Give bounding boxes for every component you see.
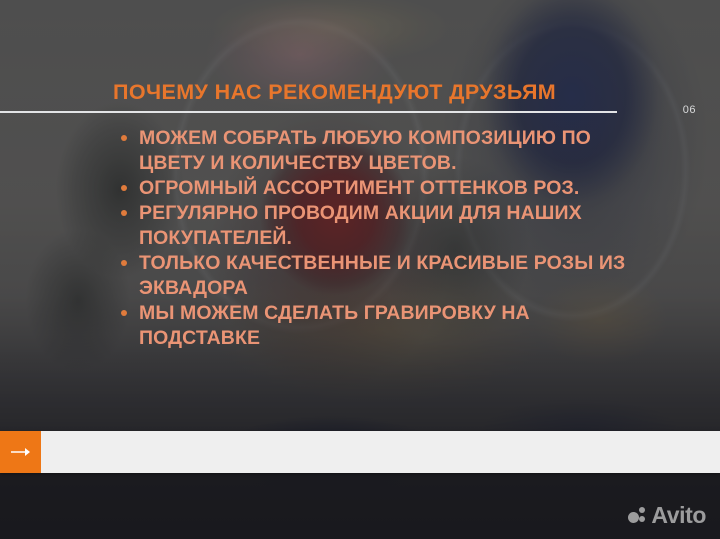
list-item: ОГРОМНЫЙ АССОРТИМЕНТ ОТТЕНКОВ РОЗ. bbox=[113, 176, 638, 201]
list-item: МЫ МОЖЕМ СДЕЛАТЬ ГРАВИРОВКУ НА ПОДСТАВКЕ bbox=[113, 301, 638, 351]
title-divider-rule bbox=[0, 111, 617, 113]
arrow-right-icon bbox=[10, 446, 32, 458]
list-item: РЕГУЛЯРНО ПРОВОДИМ АКЦИИ ДЛЯ НАШИХ ПОКУП… bbox=[113, 201, 638, 251]
watermark-label: Avito bbox=[651, 504, 706, 527]
benefits-list: МОЖЕМ СОБРАТЬ ЛЮБУЮ КОМПОЗИЦИЮ ПО ЦВЕТУ … bbox=[113, 126, 638, 351]
list-item: ТОЛЬКО КАЧЕСТВЕННЫЕ И КРАСИВЫЕ РОЗЫ ИЗ Э… bbox=[113, 251, 638, 301]
list-item: МОЖЕМ СОБРАТЬ ЛЮБУЮ КОМПОЗИЦИЮ ПО ЦВЕТУ … bbox=[113, 126, 638, 176]
avito-dots-icon bbox=[628, 507, 647, 524]
page-number: 06 bbox=[683, 104, 696, 116]
bottom-toolbar bbox=[0, 431, 720, 473]
next-slide-button[interactable] bbox=[0, 431, 41, 473]
slide-canvas: ПОЧЕМУ НАС РЕКОМЕНДУЮТ ДРУЗЬЯМ 06 МОЖЕМ … bbox=[0, 0, 720, 539]
avito-watermark: Avito bbox=[628, 504, 706, 527]
slide-title: ПОЧЕМУ НАС РЕКОМЕНДУЮТ ДРУЗЬЯМ bbox=[113, 80, 556, 105]
